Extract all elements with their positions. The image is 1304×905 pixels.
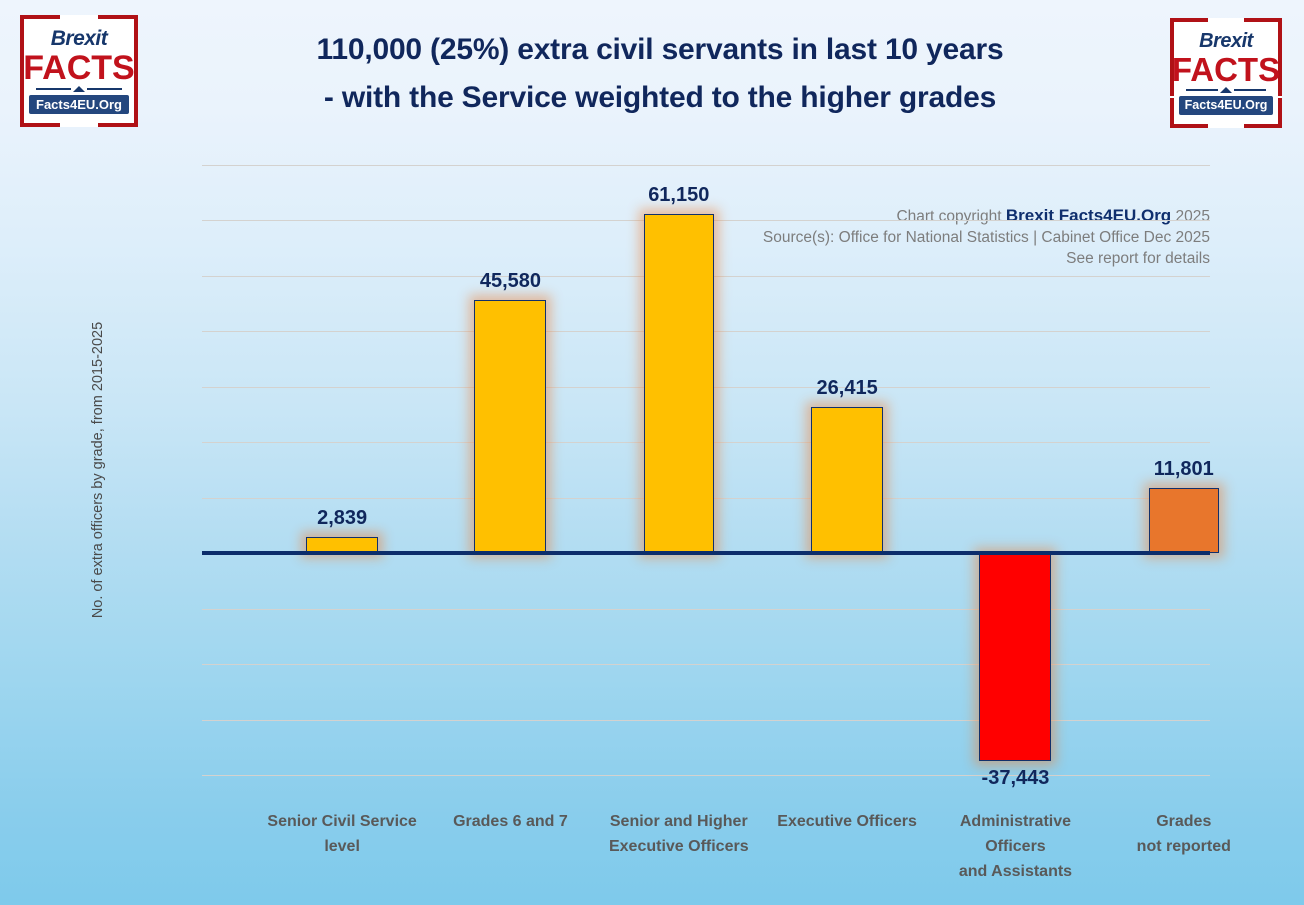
bar[interactable] <box>644 214 714 553</box>
x-axis-label-line: Executive Officers <box>564 835 794 860</box>
logo-domain-banner: Facts4EU.Org <box>1179 96 1274 115</box>
page-title: 110,000 (25%) extra civil servants in la… <box>160 26 1160 122</box>
logo-brexit-text: Brexit <box>1199 31 1253 51</box>
attribution-year: 2025 <box>1176 208 1210 225</box>
brexit-facts-logo-left[interactable]: Brexit FACTS Facts4EU.Org <box>20 15 138 127</box>
gridline <box>202 664 1210 665</box>
attribution-copyright-line: Chart copyright Brexit Facts4EU.Org 2025 <box>690 205 1210 228</box>
bar-value-label: 11,801 <box>1074 458 1294 481</box>
y-axis-title: No. of extra officers by grade, from 201… <box>90 260 106 680</box>
chart-plot-area: No. of extra officers by grade, from 201… <box>202 165 1210 775</box>
x-axis-label-line: Grades <box>1069 810 1299 835</box>
x-axis-label-line: not reported <box>1069 835 1299 860</box>
bar-value-label: 45,580 <box>400 270 620 293</box>
logo-divider <box>1186 87 1267 93</box>
title-line-1: 110,000 (25%) extra civil servants in la… <box>160 26 1160 74</box>
logo-domain-banner: Facts4EU.Org <box>29 95 129 114</box>
gridline <box>202 720 1210 721</box>
brexit-facts-logo-right[interactable]: Brexit FACTS Facts4EU.Org <box>1170 18 1282 128</box>
bar-value-label: -37,443 <box>905 767 1125 790</box>
bar-value-label: 26,415 <box>737 377 957 400</box>
attribution-note: See report for details <box>690 249 1210 270</box>
bar-value-label: 61,150 <box>569 184 789 207</box>
logo-facts-text: FACTS <box>1172 53 1280 86</box>
logo-facts-text: FACTS <box>23 51 134 85</box>
zero-baseline <box>202 551 1210 555</box>
bar[interactable] <box>1149 488 1219 553</box>
bar[interactable] <box>811 407 883 553</box>
bar-value-label: 2,839 <box>232 507 452 530</box>
attribution-brand: Brexit Facts4EU.Org <box>1006 206 1171 225</box>
gridline <box>202 165 1210 166</box>
attribution-sources: Source(s): Office for National Statistic… <box>690 228 1210 249</box>
x-axis-label-line: and Assistants <box>900 860 1130 885</box>
bar[interactable] <box>979 553 1051 761</box>
chart-attribution: Chart copyright Brexit Facts4EU.Org 2025… <box>690 205 1210 270</box>
logo-divider <box>36 86 122 92</box>
logo-brexit-text: Brexit <box>51 28 108 49</box>
x-axis-label-line: level <box>227 835 457 860</box>
gridline <box>202 609 1210 610</box>
x-axis-category-label: Gradesnot reported <box>1069 810 1299 860</box>
title-line-2: - with the Service weighted to the highe… <box>160 74 1160 122</box>
attribution-copyright-prefix: Chart copyright <box>896 208 1001 225</box>
bar[interactable] <box>474 300 546 553</box>
